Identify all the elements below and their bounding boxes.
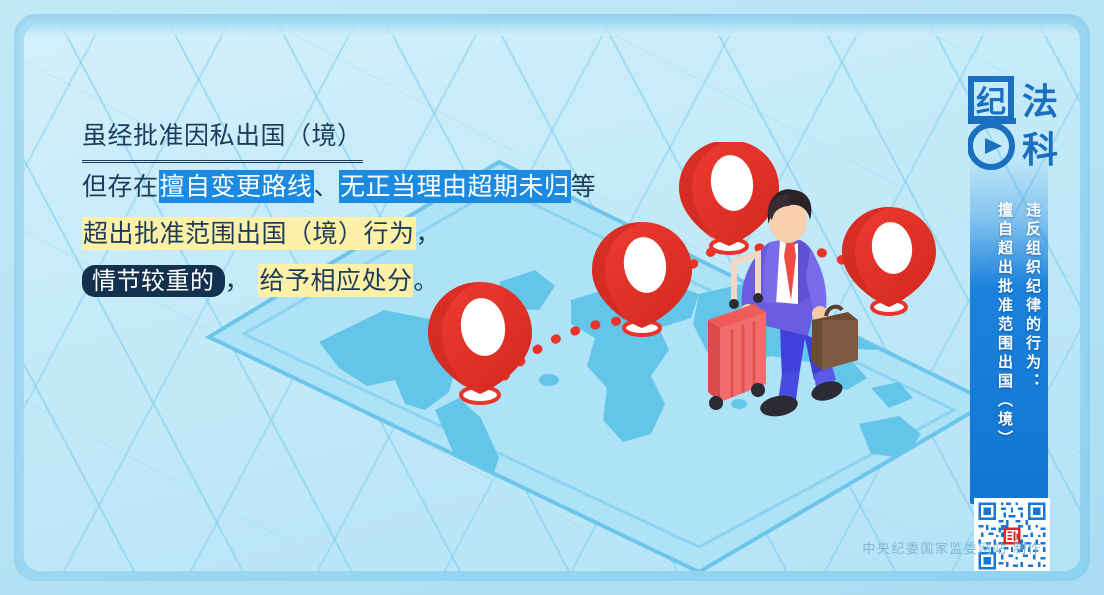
- line4-highlight: 给予相应处分: [258, 264, 413, 297]
- suitcase-side: [708, 320, 720, 402]
- headline-line-2: 但存在擅自变更路线、无正当理由超期未归等: [82, 163, 702, 210]
- line2-highlight-1: 擅自变更路线: [159, 170, 314, 203]
- line2-prefix: 但存在: [82, 172, 159, 201]
- line2-suffix: 等: [571, 172, 597, 201]
- line4-period: 。: [413, 266, 439, 295]
- right-side-panel: 纪 法 科 违反组织纪律的行为： 擅自超出批准范围出国（境）: [964, 46, 1054, 546]
- line3-suffix: ，: [416, 219, 442, 248]
- line2-separator: 、: [314, 172, 340, 201]
- suitcase-wheel-2: [751, 383, 765, 397]
- vertical-title-primary: 违反组织纪律的行为：: [1024, 202, 1040, 502]
- qr-code[interactable]: [974, 498, 1050, 571]
- line4-comma: ，: [225, 266, 251, 295]
- play-icon: [985, 138, 1002, 154]
- headline-line-3: 超出批准范围出国（境）行为，: [82, 210, 702, 257]
- logo-char-fa: 法: [1022, 81, 1058, 123]
- qr-code-svg: [976, 500, 1048, 571]
- handle-knob-left: [729, 299, 739, 309]
- footer-credit: 中央纪委国家监委网站 制作: [862, 538, 1042, 557]
- briefcase-front: [822, 320, 858, 370]
- headline-line-1-underlined: 虽经批准因私出国（境）: [82, 112, 363, 163]
- logo-char-ji: 纪: [976, 85, 1006, 120]
- infographic-canvas: 虽经批准因私出国（境） 但存在擅自变更路线、无正当理由超期未归等 超出批准范围出…: [0, 0, 1104, 595]
- background-top-band: [24, 24, 1080, 36]
- traveler-svg: [696, 184, 876, 434]
- severity-badge: 情节较重的: [82, 265, 225, 297]
- headline-text-block: 虽经批准因私出国（境） 但存在擅自变更路线、无正当理由超期未归等 超出批准范围出…: [82, 112, 702, 304]
- inner-frame: 虽经批准因私出国（境） 但存在擅自变更路线、无正当理由超期未归等 超出批准范围出…: [24, 24, 1080, 571]
- vertical-title-panel: 违反组织纪律的行为： 擅自超出批准范围出国（境）: [970, 154, 1048, 504]
- suitcase-wheel-1: [709, 396, 723, 410]
- line2-highlight-2: 无正当理由超期未归: [339, 170, 571, 203]
- headline-line-1: 虽经批准因私出国（境）: [82, 112, 702, 163]
- vertical-title-secondary: 擅自超出批准范围出国（境）: [996, 202, 1012, 502]
- traveler-figure: [696, 184, 876, 434]
- line3-highlight: 超出批准范围出国（境）行为: [82, 217, 416, 250]
- handle-knob-right: [753, 293, 763, 303]
- headline-line-4: 情节较重的， 给予相应处分。: [82, 257, 702, 304]
- back-shoe: [809, 378, 845, 404]
